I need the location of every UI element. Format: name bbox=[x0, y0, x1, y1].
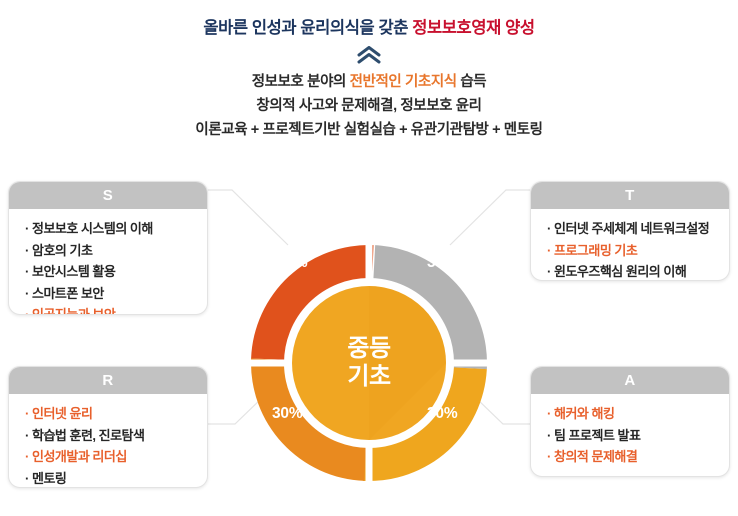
card-a-body: ·해커와 해킹 ·팀 프로젝트 발표 ·창의적 문제해결 bbox=[531, 394, 729, 477]
page-title-primary: 올바른 인성과 윤리의식을 갖춘 bbox=[203, 19, 412, 37]
subtitle-line-1-post: 습득 bbox=[457, 74, 487, 90]
card-s-item-4-label: 인공지능과 보안 bbox=[32, 307, 115, 315]
page-subtitle: 정보보호 분야의 전반적인 기초지식 습득 창의적 사고와 문제해결, 정보보호… bbox=[0, 70, 738, 142]
card-s-item-3-label: 스마트폰 보안 bbox=[32, 286, 104, 301]
card-s-header: S bbox=[9, 182, 207, 209]
card-r-item-3-label: 멘토링 bbox=[32, 471, 66, 486]
card-r-item-0: ·인터넷 윤리 bbox=[25, 403, 207, 425]
card-s-item-2-label: 보안시스템 활용 bbox=[32, 264, 115, 279]
card-t-item-0-label: 인터넷 주세체계 네트워크설정 bbox=[554, 221, 709, 236]
card-t-item-0: ·인터넷 주세체계 네트워크설정 bbox=[547, 218, 729, 240]
card-t-header: T bbox=[531, 182, 729, 209]
subtitle-line-1-highlight: 전반적인 기초지식 bbox=[350, 74, 457, 90]
subtitle-line-1-pre: 정보보호 분야의 bbox=[252, 74, 350, 90]
card-a-item-1: ·팀 프로젝트 발표 bbox=[547, 425, 729, 447]
card-r-body: ·인터넷 윤리 ·학습법 훈련, 진로탐색 ·인성개발과 리더십 ·멘토링 bbox=[9, 394, 207, 488]
card-s-item-2: ·보안시스템 활용 bbox=[25, 261, 207, 283]
card-t[interactable]: T ·인터넷 주세체계 네트워크설정 ·프로그래밍 기초 ·윈도우즈핵심 원리의… bbox=[530, 181, 730, 281]
chevron-up-icon-wrap bbox=[0, 46, 738, 64]
card-r-header: R bbox=[9, 367, 207, 394]
card-s-body: ·정보보호 시스템의 이해 ·암호의 기초 ·보안시스템 활용 ·스마트폰 보안… bbox=[9, 209, 207, 315]
card-a-item-0: ·해커와 해킹 bbox=[547, 403, 729, 425]
card-r-item-1: ·학습법 훈련, 진로탐색 bbox=[25, 425, 207, 447]
card-s-item-1-label: 암호의 기초 bbox=[32, 243, 92, 258]
card-s-item-3: ·스마트폰 보안 bbox=[25, 283, 207, 305]
card-t-item-2-label: 윈도우즈핵심 원리의 이해 bbox=[554, 264, 686, 279]
subtitle-line-3: 이론교육 + 프로젝트기반 실험실습 + 유관기관탐방 + 멘토링 bbox=[0, 118, 738, 142]
card-s-item-0-label: 정보보호 시스템의 이해 bbox=[32, 221, 153, 236]
card-a-item-2-label: 창의적 문제해결 bbox=[554, 449, 637, 464]
card-t-body: ·인터넷 주세체계 네트워크설정 ·프로그래밍 기초 ·윈도우즈핵심 원리의 이… bbox=[531, 209, 729, 281]
subtitle-line-1: 정보보호 분야의 전반적인 기초지식 습득 bbox=[0, 70, 738, 94]
card-r-item-2-label: 인성개발과 리더십 bbox=[32, 449, 127, 464]
card-r-item-0-label: 인터넷 윤리 bbox=[32, 406, 92, 421]
subtitle-line-2: 창의적 사고와 문제해결, 정보보호 윤리 bbox=[0, 94, 738, 118]
card-t-item-1: ·프로그래밍 기초 bbox=[547, 240, 729, 262]
double-chevron-up-icon bbox=[355, 46, 383, 64]
card-a[interactable]: A ·해커와 해킹 ·팀 프로젝트 발표 ·창의적 문제해결 bbox=[530, 366, 730, 477]
card-s[interactable]: S ·정보보호 시스템의 이해 ·암호의 기초 ·보안시스템 활용 ·스마트폰 … bbox=[8, 181, 208, 315]
page-title: 올바른 인성과 윤리의식을 갖춘 정보보호영재 양성 bbox=[0, 14, 738, 38]
card-a-item-1-label: 팀 프로젝트 발표 bbox=[554, 428, 640, 443]
card-r-item-2: ·인성개발과 리더십 bbox=[25, 446, 207, 468]
card-t-item-2: ·윈도우즈핵심 원리의 이해 bbox=[547, 261, 729, 281]
card-a-item-2: ·창의적 문제해결 bbox=[547, 446, 729, 468]
donut-chart bbox=[245, 239, 493, 487]
card-r-item-3: ·멘토링 bbox=[25, 468, 207, 489]
card-r[interactable]: R ·인터넷 윤리 ·학습법 훈련, 진로탐색 ·인성개발과 리더십 ·멘토링 bbox=[8, 366, 208, 488]
card-r-item-1-label: 학습법 훈련, 진로탐색 bbox=[32, 428, 144, 443]
infographic-canvas: 올바른 인성과 윤리의식을 갖춘 정보보호영재 양성 정보보호 분야의 전반적인… bbox=[0, 0, 738, 516]
card-a-header: A bbox=[531, 367, 729, 394]
card-s-item-4: ·인공지능과 보안 bbox=[25, 304, 207, 315]
card-s-item-0: ·정보보호 시스템의 이해 bbox=[25, 218, 207, 240]
card-a-item-0-label: 해커와 해킹 bbox=[554, 406, 614, 421]
page-title-highlight: 정보보호영재 양성 bbox=[412, 19, 534, 37]
card-t-item-1-label: 프로그래밍 기초 bbox=[554, 243, 637, 258]
card-s-item-1: ·암호의 기초 bbox=[25, 240, 207, 262]
